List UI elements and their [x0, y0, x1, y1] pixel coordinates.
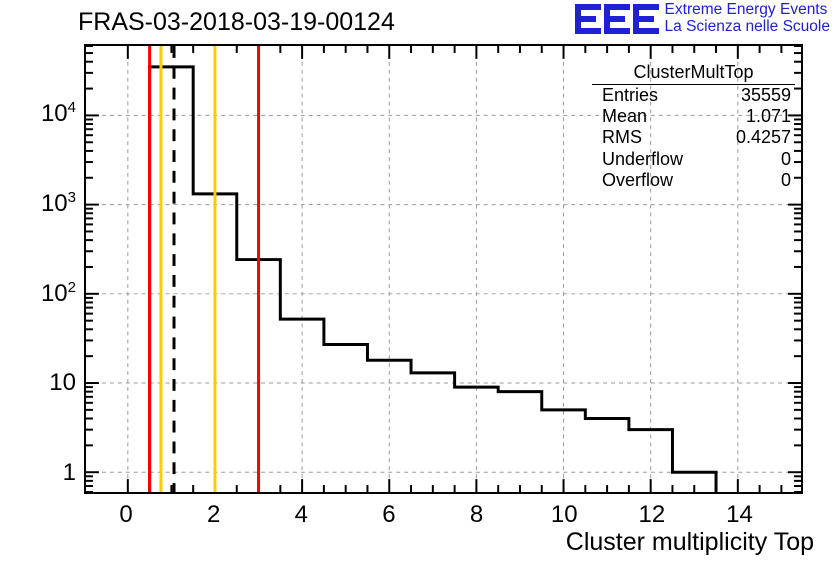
stats-row-value: 1.071	[746, 106, 791, 127]
x-tick-label: 14	[719, 501, 759, 529]
x-axis-title: Cluster multiplicity Top	[566, 528, 814, 557]
y-tick-label: 104	[41, 99, 76, 128]
stats-row-value: 35559	[741, 85, 791, 106]
eee-logo-mark-icon	[575, 4, 659, 34]
root-canvas: FRAS-03-2018-03-19-00124 Extreme Energy …	[0, 0, 836, 572]
y-tick-label: 103	[41, 189, 76, 218]
stats-row-label: RMS	[602, 127, 642, 148]
stats-row-label: Mean	[602, 106, 647, 127]
stats-row-label: Entries	[602, 85, 658, 106]
stats-box: ClusterMultTop Entries35559Mean1.071RMS0…	[592, 62, 795, 191]
x-tick-label: 0	[106, 501, 146, 529]
logo-line-2: La Scienza nelle Scuole	[665, 19, 830, 36]
stats-row-value: 0	[781, 170, 791, 191]
stats-row: RMS0.4257	[592, 127, 795, 148]
x-tick-label: 8	[457, 501, 497, 529]
y-tick-label: 1	[63, 459, 76, 487]
stats-row: Entries35559	[592, 85, 795, 106]
marker-lines	[150, 46, 259, 492]
y-tick-label: 102	[41, 279, 76, 308]
stats-rows: Entries35559Mean1.071RMS0.4257Underflow0…	[592, 85, 795, 191]
stats-row: Underflow0	[592, 149, 795, 170]
x-tick-label: 4	[281, 501, 321, 529]
eee-logo: Extreme Energy Events La Scienza nelle S…	[575, 2, 830, 35]
x-tick-label: 12	[632, 501, 672, 529]
logo-line-1: Extreme Energy Events	[665, 2, 830, 19]
stats-title: ClusterMultTop	[592, 62, 795, 85]
stats-row: Mean1.071	[592, 106, 795, 127]
x-tick-label: 2	[194, 501, 234, 529]
stats-row-value: 0.4257	[736, 127, 791, 148]
stats-row: Overflow0	[592, 170, 795, 191]
stats-row-label: Overflow	[602, 170, 673, 191]
stats-row-value: 0	[781, 149, 791, 170]
page-title: FRAS-03-2018-03-19-00124	[78, 8, 395, 37]
stats-row-label: Underflow	[602, 149, 683, 170]
x-tick-label: 6	[369, 501, 409, 529]
eee-logo-text: Extreme Energy Events La Scienza nelle S…	[665, 2, 830, 35]
y-tick-label: 10	[49, 369, 76, 397]
x-tick-label: 10	[544, 501, 584, 529]
